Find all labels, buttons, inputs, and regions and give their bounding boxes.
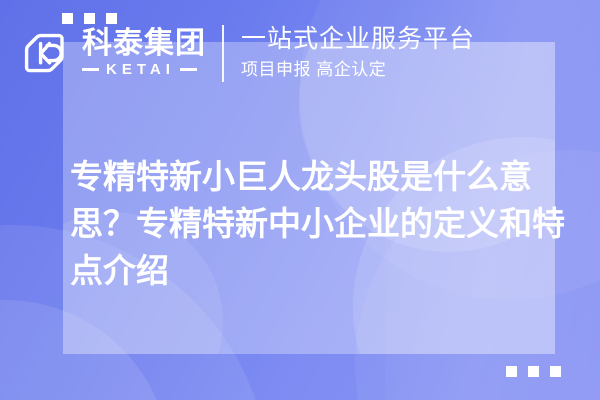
square-icon — [550, 366, 561, 377]
brand-name-en-row: KETAI — [82, 62, 206, 77]
brand-name-en: KETAI — [104, 62, 175, 77]
ketai-diamond-monogram-icon — [16, 25, 72, 81]
brand-name-cn: 科泰集团 — [82, 29, 206, 60]
square-icon — [506, 366, 517, 377]
square-icon — [528, 366, 539, 377]
brand-lockup: 科泰集团 KETAI — [10, 25, 206, 81]
slogan-block: 一站式企业服务平台 项目申报 高企认定 — [241, 25, 475, 80]
decorative-squares-bottom — [506, 366, 561, 377]
slogan-sub: 项目申报 高企认定 — [241, 60, 475, 80]
header-divider — [222, 25, 224, 82]
brand-rule-left-icon — [82, 68, 99, 71]
slogan-main: 一站式企业服务平台 — [241, 25, 475, 54]
poster-header: 科泰集团 KETAI 一站式企业服务平台 项目申报 高企认定 — [10, 5, 600, 101]
page-title: 专精特新小巨人龙头股是什么意思？专精特新中小企业的定义和特点介绍 — [70, 153, 570, 294]
brand-rule-right-icon — [180, 68, 197, 71]
brand-wordmark: 科泰集团 KETAI — [82, 29, 206, 78]
promo-poster: 科泰集团 KETAI 一站式企业服务平台 项目申报 高企认定 专精特新小巨人龙头… — [0, 0, 600, 400]
